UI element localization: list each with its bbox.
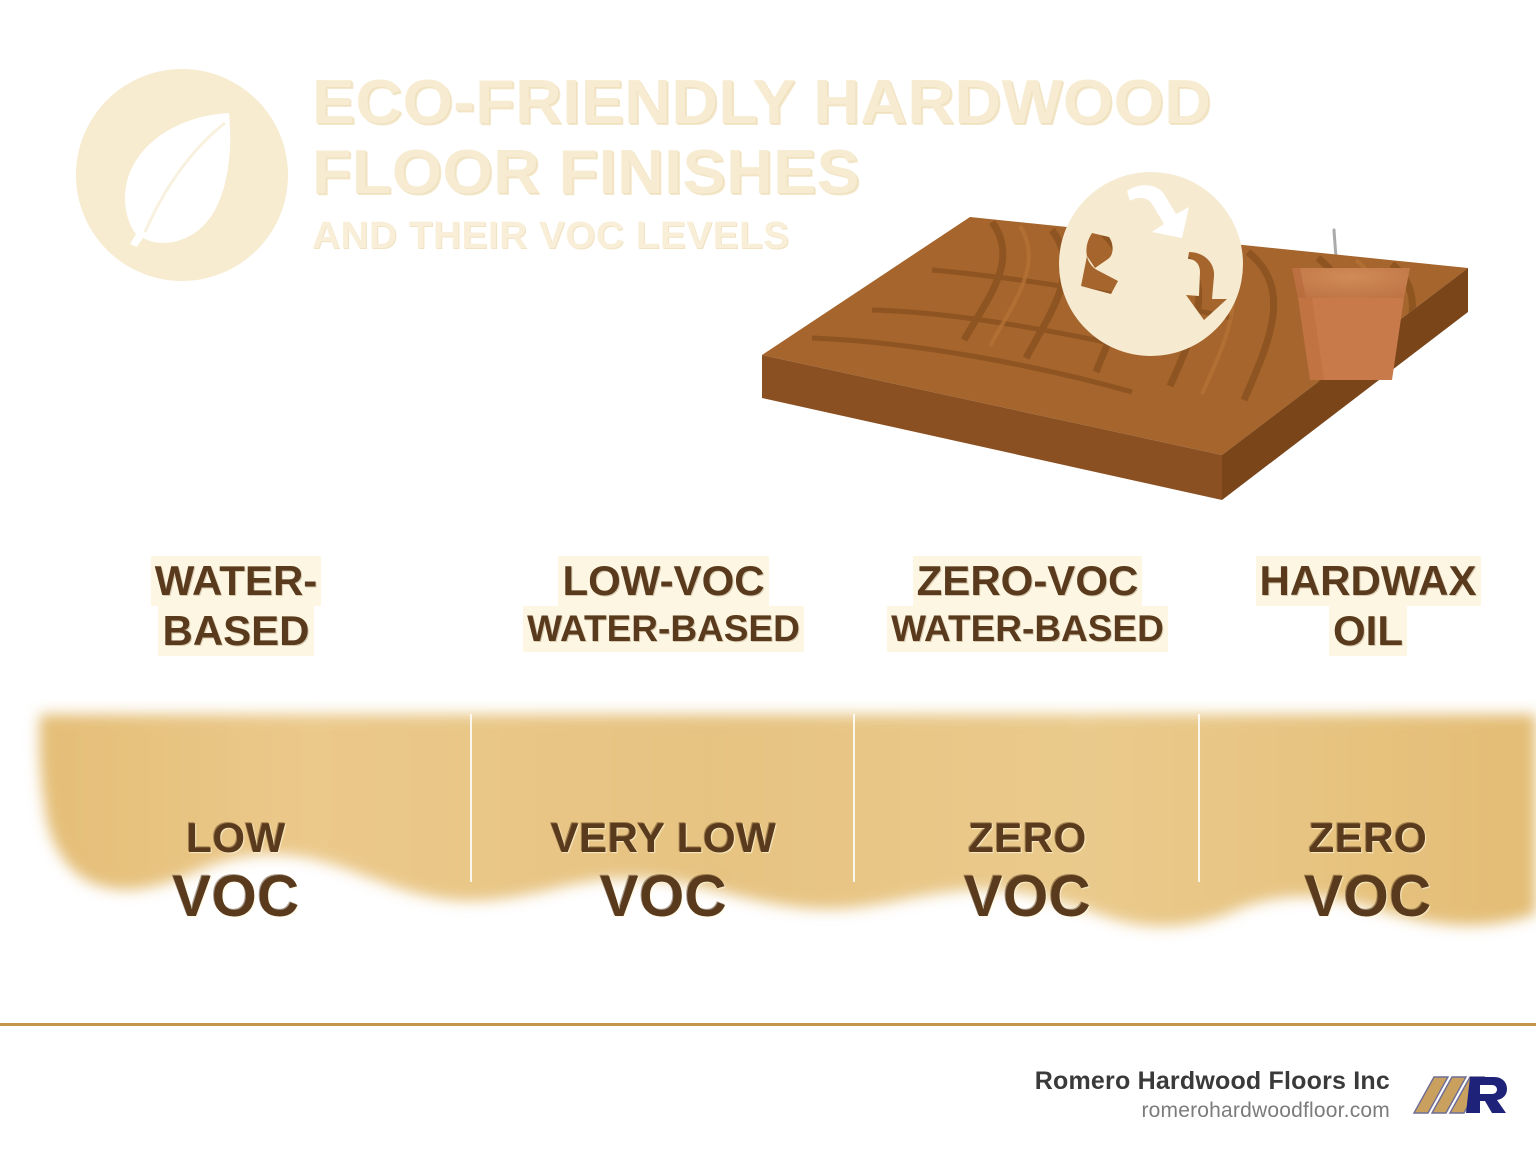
voc-level-qualifier: ZERO bbox=[1309, 812, 1428, 864]
voc-level-qualifier: ZERO bbox=[968, 812, 1087, 864]
voc-cell-low-voc-water-based: VERY LOW VOC bbox=[472, 714, 855, 944]
leaf-icon bbox=[73, 66, 291, 284]
romero-r-logo-icon bbox=[1408, 1067, 1508, 1123]
column-header-line-2: BASED bbox=[158, 606, 313, 656]
column-header-water-based: WATER- BASED bbox=[0, 556, 472, 706]
voc-level-cells: LOW VOC VERY LOW VOC ZERO VOC ZERO VOC bbox=[0, 714, 1536, 944]
wood-plank-illustration bbox=[752, 160, 1536, 550]
infographic-poster: ECO-FRIENDLY HARDWOOD FLOOR FINISHES AND… bbox=[0, 0, 1536, 1154]
voc-label: VOC bbox=[1304, 864, 1431, 930]
column-header-hardwax-oil: HARDWAX OIL bbox=[1200, 556, 1536, 706]
column-header-zero-voc-water-based: ZERO-VOC WATER-BASED bbox=[855, 556, 1200, 706]
voc-level-qualifier: LOW bbox=[186, 812, 285, 864]
voc-cell-water-based: LOW VOC bbox=[0, 714, 472, 944]
column-header-line-2: OIL bbox=[1329, 606, 1407, 656]
voc-label: VOC bbox=[600, 864, 727, 930]
footer: Romero Hardwood Floors Inc romerohardwoo… bbox=[0, 1055, 1536, 1135]
brand-name: Romero Hardwood Floors Inc bbox=[1035, 1066, 1390, 1097]
column-header-line-1: LOW-VOC bbox=[558, 556, 768, 606]
column-headers: WATER- BASED LOW-VOC WATER-BASED ZERO-VO… bbox=[0, 556, 1536, 706]
column-header-line-1: WATER- bbox=[151, 556, 322, 606]
title-line-1: ECO-FRIENDLY HARDWOOD bbox=[312, 68, 1414, 138]
column-header-line-2: WATER-BASED bbox=[523, 606, 804, 652]
voc-level-qualifier: VERY LOW bbox=[551, 812, 777, 864]
column-header-line-2: WATER-BASED bbox=[887, 606, 1168, 652]
column-header-low-voc-water-based: LOW-VOC WATER-BASED bbox=[472, 556, 855, 706]
voc-label: VOC bbox=[964, 864, 1091, 930]
voc-cell-zero-voc-water-based: ZERO VOC bbox=[855, 714, 1200, 944]
footer-text: Romero Hardwood Floors Inc romerohardwoo… bbox=[1035, 1066, 1390, 1125]
brand-website[interactable]: romerohardwoodfloor.com bbox=[1035, 1097, 1390, 1125]
voc-label: VOC bbox=[172, 864, 299, 930]
column-header-line-1: ZERO-VOC bbox=[913, 556, 1143, 606]
footer-divider bbox=[0, 1023, 1536, 1026]
column-header-line-1: HARDWAX bbox=[1256, 556, 1481, 606]
voc-cell-hardwax-oil: ZERO VOC bbox=[1200, 714, 1536, 944]
